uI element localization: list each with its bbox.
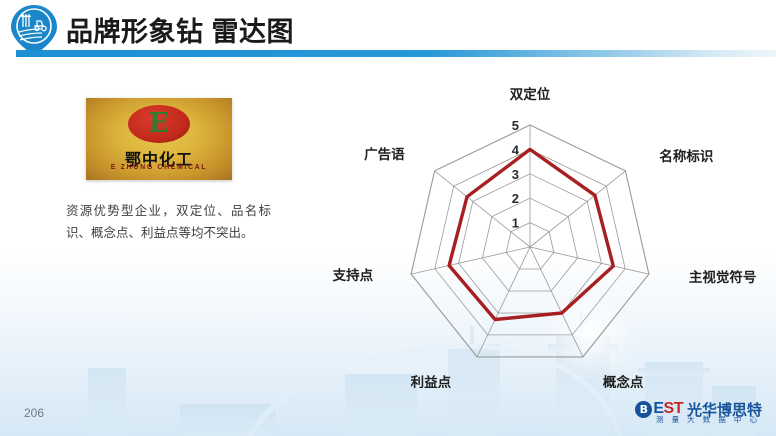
agriculture-pin-icon: [9, 4, 59, 56]
radar-label-0: 双定位: [510, 86, 551, 102]
radar-axis: [411, 247, 530, 274]
radar-label-3: 概念点: [603, 374, 644, 388]
brand-emblem-letter: E: [149, 109, 170, 139]
page-title: 品牌形象钻 雷达图: [66, 10, 294, 49]
radar-label-4: 利益点: [411, 374, 452, 388]
radar-tick-2: 2: [512, 191, 519, 206]
radar-tick-4: 4: [512, 142, 520, 157]
logo-subtitle: 测 量 大 数 据 中 心: [656, 414, 760, 425]
radar-axis: [530, 247, 649, 274]
slide: 品牌形象钻 雷达图 E 鄂中化工 E ZHONG CHEMICAL 资源优势型企…: [0, 0, 776, 436]
radar-tick-labels: 12345: [512, 118, 520, 231]
header-rule-gap: [0, 50, 16, 57]
description-text: 资源优势型企业，双定位、品名标识、概念点、利益点等均不突出。: [66, 200, 271, 244]
radar-tick-3: 3: [512, 167, 519, 182]
radar-label-5: 支持点: [332, 267, 374, 283]
radar-axis: [435, 171, 530, 247]
header-rule: [0, 50, 776, 57]
brand-name-en: E ZHONG CHEMICAL: [86, 164, 232, 171]
radar-tick-5: 5: [512, 118, 519, 133]
radar-label-2: 主视觉符号: [689, 269, 757, 285]
company-logo: B EST 光华博思特 测 量 大 数 据 中 心: [635, 394, 762, 424]
radar-axis-lines: [411, 125, 649, 357]
radar-label-6: 广告语: [364, 146, 405, 162]
radar-tick-1: 1: [512, 216, 519, 231]
radar-chart: 12345 双定位名称标识主视觉符号概念点利益点支持点广告语: [330, 78, 770, 388]
radar-series-polygon: [449, 149, 613, 319]
radar-label-1: 名称标识: [659, 148, 713, 164]
slide-header: 品牌形象钻 雷达图: [0, 0, 776, 60]
radar-axis: [477, 247, 530, 357]
brand-logo-card: E 鄂中化工 E ZHONG CHEMICAL: [86, 98, 232, 180]
logo-mark: B: [635, 401, 652, 418]
page-number: 206: [24, 406, 44, 420]
